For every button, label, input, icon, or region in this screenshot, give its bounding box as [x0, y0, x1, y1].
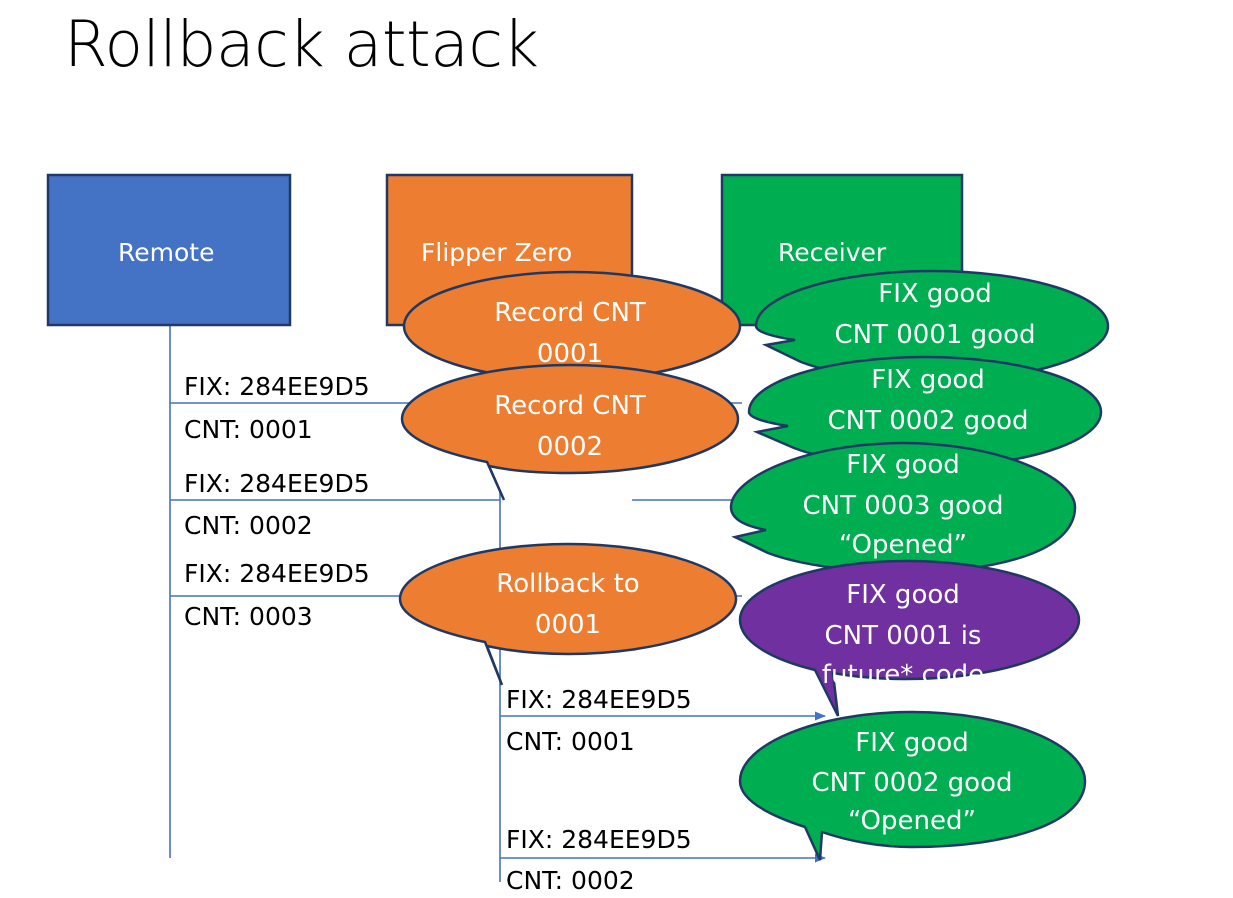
slide-canvas: Rollback attack Remote Flipper Zero Rece…: [0, 0, 1233, 898]
callout-line: CNT 0002 good: [811, 768, 1012, 798]
message-fix: FIX: 284EE9D5: [184, 469, 370, 498]
callout-line: FIX good: [846, 580, 960, 610]
receiver-callout-rx-future[interactable]: FIX good CNT 0001 is future* code: [740, 561, 1079, 716]
callout-line: “Opened”: [848, 806, 976, 836]
message-label-msg-5: FIX: 284EE9D5 CNT: 0002: [506, 825, 692, 895]
callout-line: FIX good: [855, 728, 969, 758]
lane-label-remote: Remote: [118, 238, 214, 267]
message-label-msg-3: FIX: 284EE9D5 CNT: 0003: [184, 559, 370, 631]
message-cnt: CNT: 0002: [506, 866, 635, 895]
callout-line: CNT 0002 good: [827, 406, 1028, 436]
callout-line: future* code: [822, 660, 984, 690]
message-label-msg-1: FIX: 284EE9D5 CNT: 0001: [184, 372, 370, 444]
callout-line: Record CNT: [494, 298, 646, 328]
flipper-callout-rollback-0001[interactable]: Rollback to 0001: [400, 544, 736, 685]
message-fix: FIX: 284EE9D5: [506, 685, 692, 714]
message-cnt: CNT: 0001: [506, 727, 635, 756]
receiver-callout-rx-0002b[interactable]: FIX good CNT 0002 good “Opened”: [740, 712, 1085, 860]
message-cnt: CNT: 0002: [184, 511, 313, 540]
callout-line: FIX good: [871, 365, 985, 395]
callout-line: 0001: [535, 610, 601, 640]
message-fix: FIX: 284EE9D5: [506, 825, 692, 854]
message-fix: FIX: 284EE9D5: [184, 372, 370, 401]
callout-line: CNT 0001 is: [825, 621, 982, 651]
callout-line: Record CNT: [494, 391, 646, 421]
receiver-callout-rx-0003[interactable]: FIX good CNT 0003 good “Opened”: [731, 443, 1075, 572]
message-label-msg-2: FIX: 284EE9D5 CNT: 0002: [184, 469, 370, 540]
message-fix: FIX: 284EE9D5: [184, 559, 370, 588]
sequence-diagram: Remote Flipper Zero Receiver FIX good CN…: [0, 0, 1233, 898]
lane-label-flipper: Flipper Zero: [421, 238, 572, 267]
message-cnt: CNT: 0001: [184, 415, 313, 444]
callout-line: 0002: [537, 432, 603, 462]
callout-line: FIX good: [878, 279, 992, 309]
callout-line: CNT 0003 good: [802, 491, 1003, 521]
flipper-callout-record-0002[interactable]: Record CNT 0002: [402, 365, 738, 500]
lane-label-receiver: Receiver: [778, 238, 887, 267]
callout-line: “Opened”: [839, 530, 967, 560]
message-cnt: CNT: 0003: [184, 602, 313, 631]
message-label-msg-4: FIX: 284EE9D5 CNT: 0001: [506, 685, 692, 756]
callout-line: CNT 0001 good: [834, 320, 1035, 350]
callout-line: Rollback to: [496, 569, 639, 599]
callout-line: FIX good: [846, 450, 960, 480]
